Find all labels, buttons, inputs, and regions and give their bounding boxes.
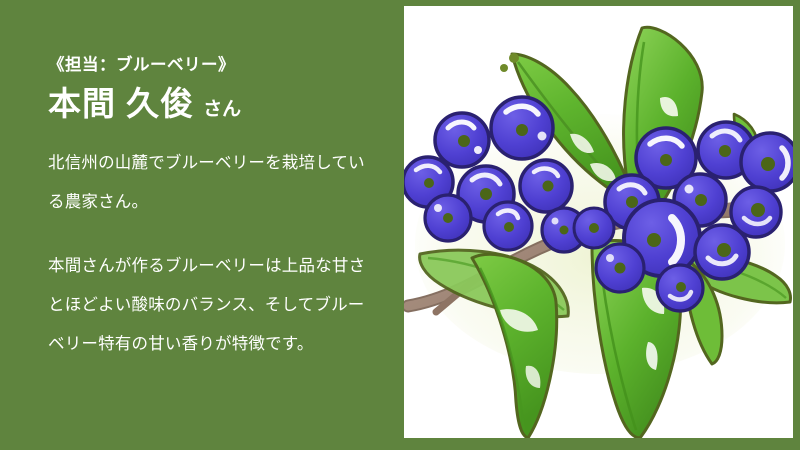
slide-root: 《担当：ブルーベリー》 本間 久俊 さん 北信州の山麓でブルーベリーを栽培してい… (0, 0, 800, 450)
berry (574, 208, 614, 248)
profile-text-column: 《担当：ブルーベリー》 本間 久俊 さん 北信州の山麓でブルーベリーを栽培してい… (48, 56, 378, 364)
berry (425, 195, 471, 241)
berry (435, 113, 489, 167)
blueberry-illustration (404, 6, 793, 438)
berry (491, 97, 553, 159)
berry (695, 225, 749, 279)
profile-paragraph-1: 北信州の山麓でブルーベリーを栽培している農家さん。 (48, 144, 378, 223)
illustration-panel (404, 6, 793, 438)
farmer-name: 本間 久俊 (48, 86, 194, 122)
role-label: 《担当：ブルーベリー》 (48, 56, 378, 76)
berry (596, 244, 644, 292)
berry (741, 133, 793, 191)
berry (484, 202, 532, 250)
profile-paragraph-2: 本間さんが作るブルーベリーは上品な甘さとほどよい酸味のバランス、そしてブルーベリ… (48, 247, 378, 365)
farmer-name-line: 本間 久俊 さん (48, 86, 378, 122)
farmer-name-suffix: さん (203, 100, 241, 121)
berry (520, 160, 572, 212)
berry (657, 265, 703, 311)
